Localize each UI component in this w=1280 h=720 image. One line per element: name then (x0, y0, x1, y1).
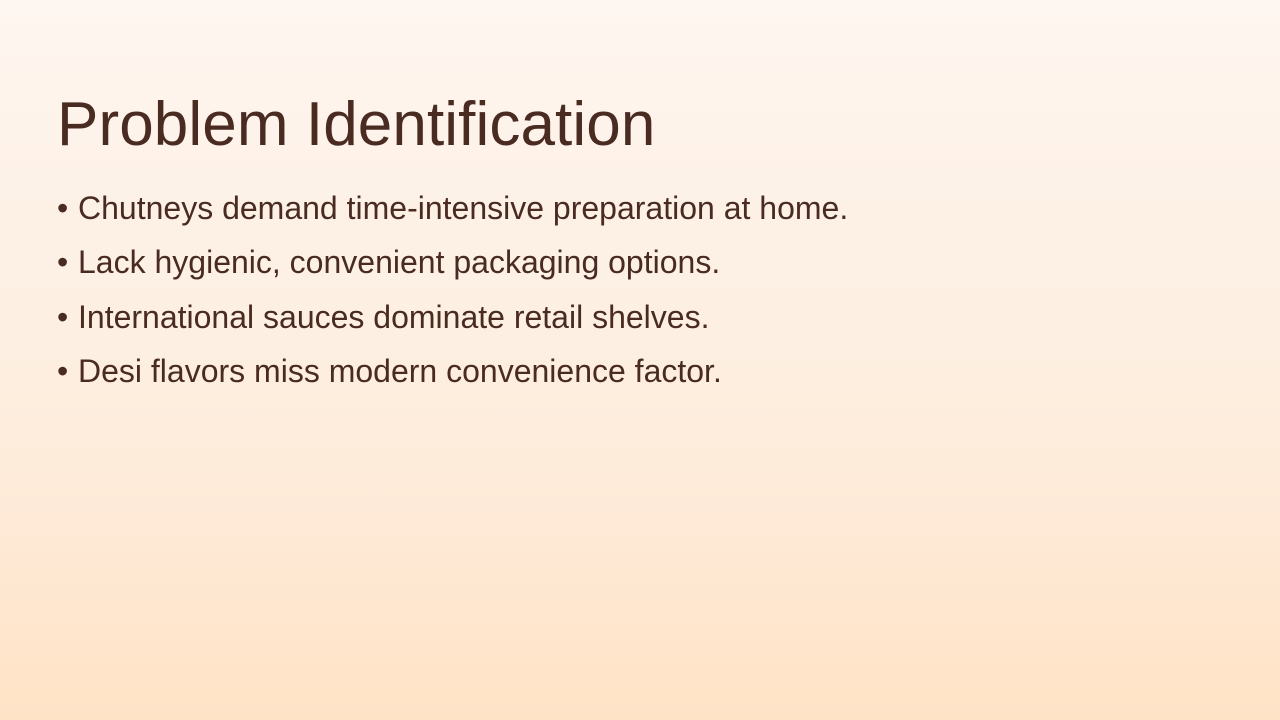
list-item: • Lack hygienic, convenient packaging op… (57, 240, 1237, 294)
list-item: • International sauces dominate retail s… (57, 295, 1237, 349)
list-item: • Desi flavors miss modern convenience f… (57, 349, 1237, 403)
bullet-dot-icon: • (57, 240, 78, 284)
slide-canvas: Problem Identification • Chutneys demand… (0, 0, 1280, 720)
list-item-label: Desi flavors miss modern convenience fac… (78, 353, 722, 389)
bullet-dot-icon: • (57, 186, 78, 230)
bullet-dot-icon: • (57, 295, 78, 339)
list-item: • Chutneys demand time-intensive prepara… (57, 186, 1237, 240)
bullet-dot-icon: • (57, 349, 78, 393)
list-item-label: Chutneys demand time-intensive preparati… (78, 190, 848, 226)
list-item-label: International sauces dominate retail she… (78, 299, 709, 335)
bullet-list: • Chutneys demand time-intensive prepara… (57, 186, 1237, 403)
list-item-label: Lack hygienic, convenient packaging opti… (78, 244, 720, 280)
page-title: Problem Identification (57, 90, 1217, 159)
